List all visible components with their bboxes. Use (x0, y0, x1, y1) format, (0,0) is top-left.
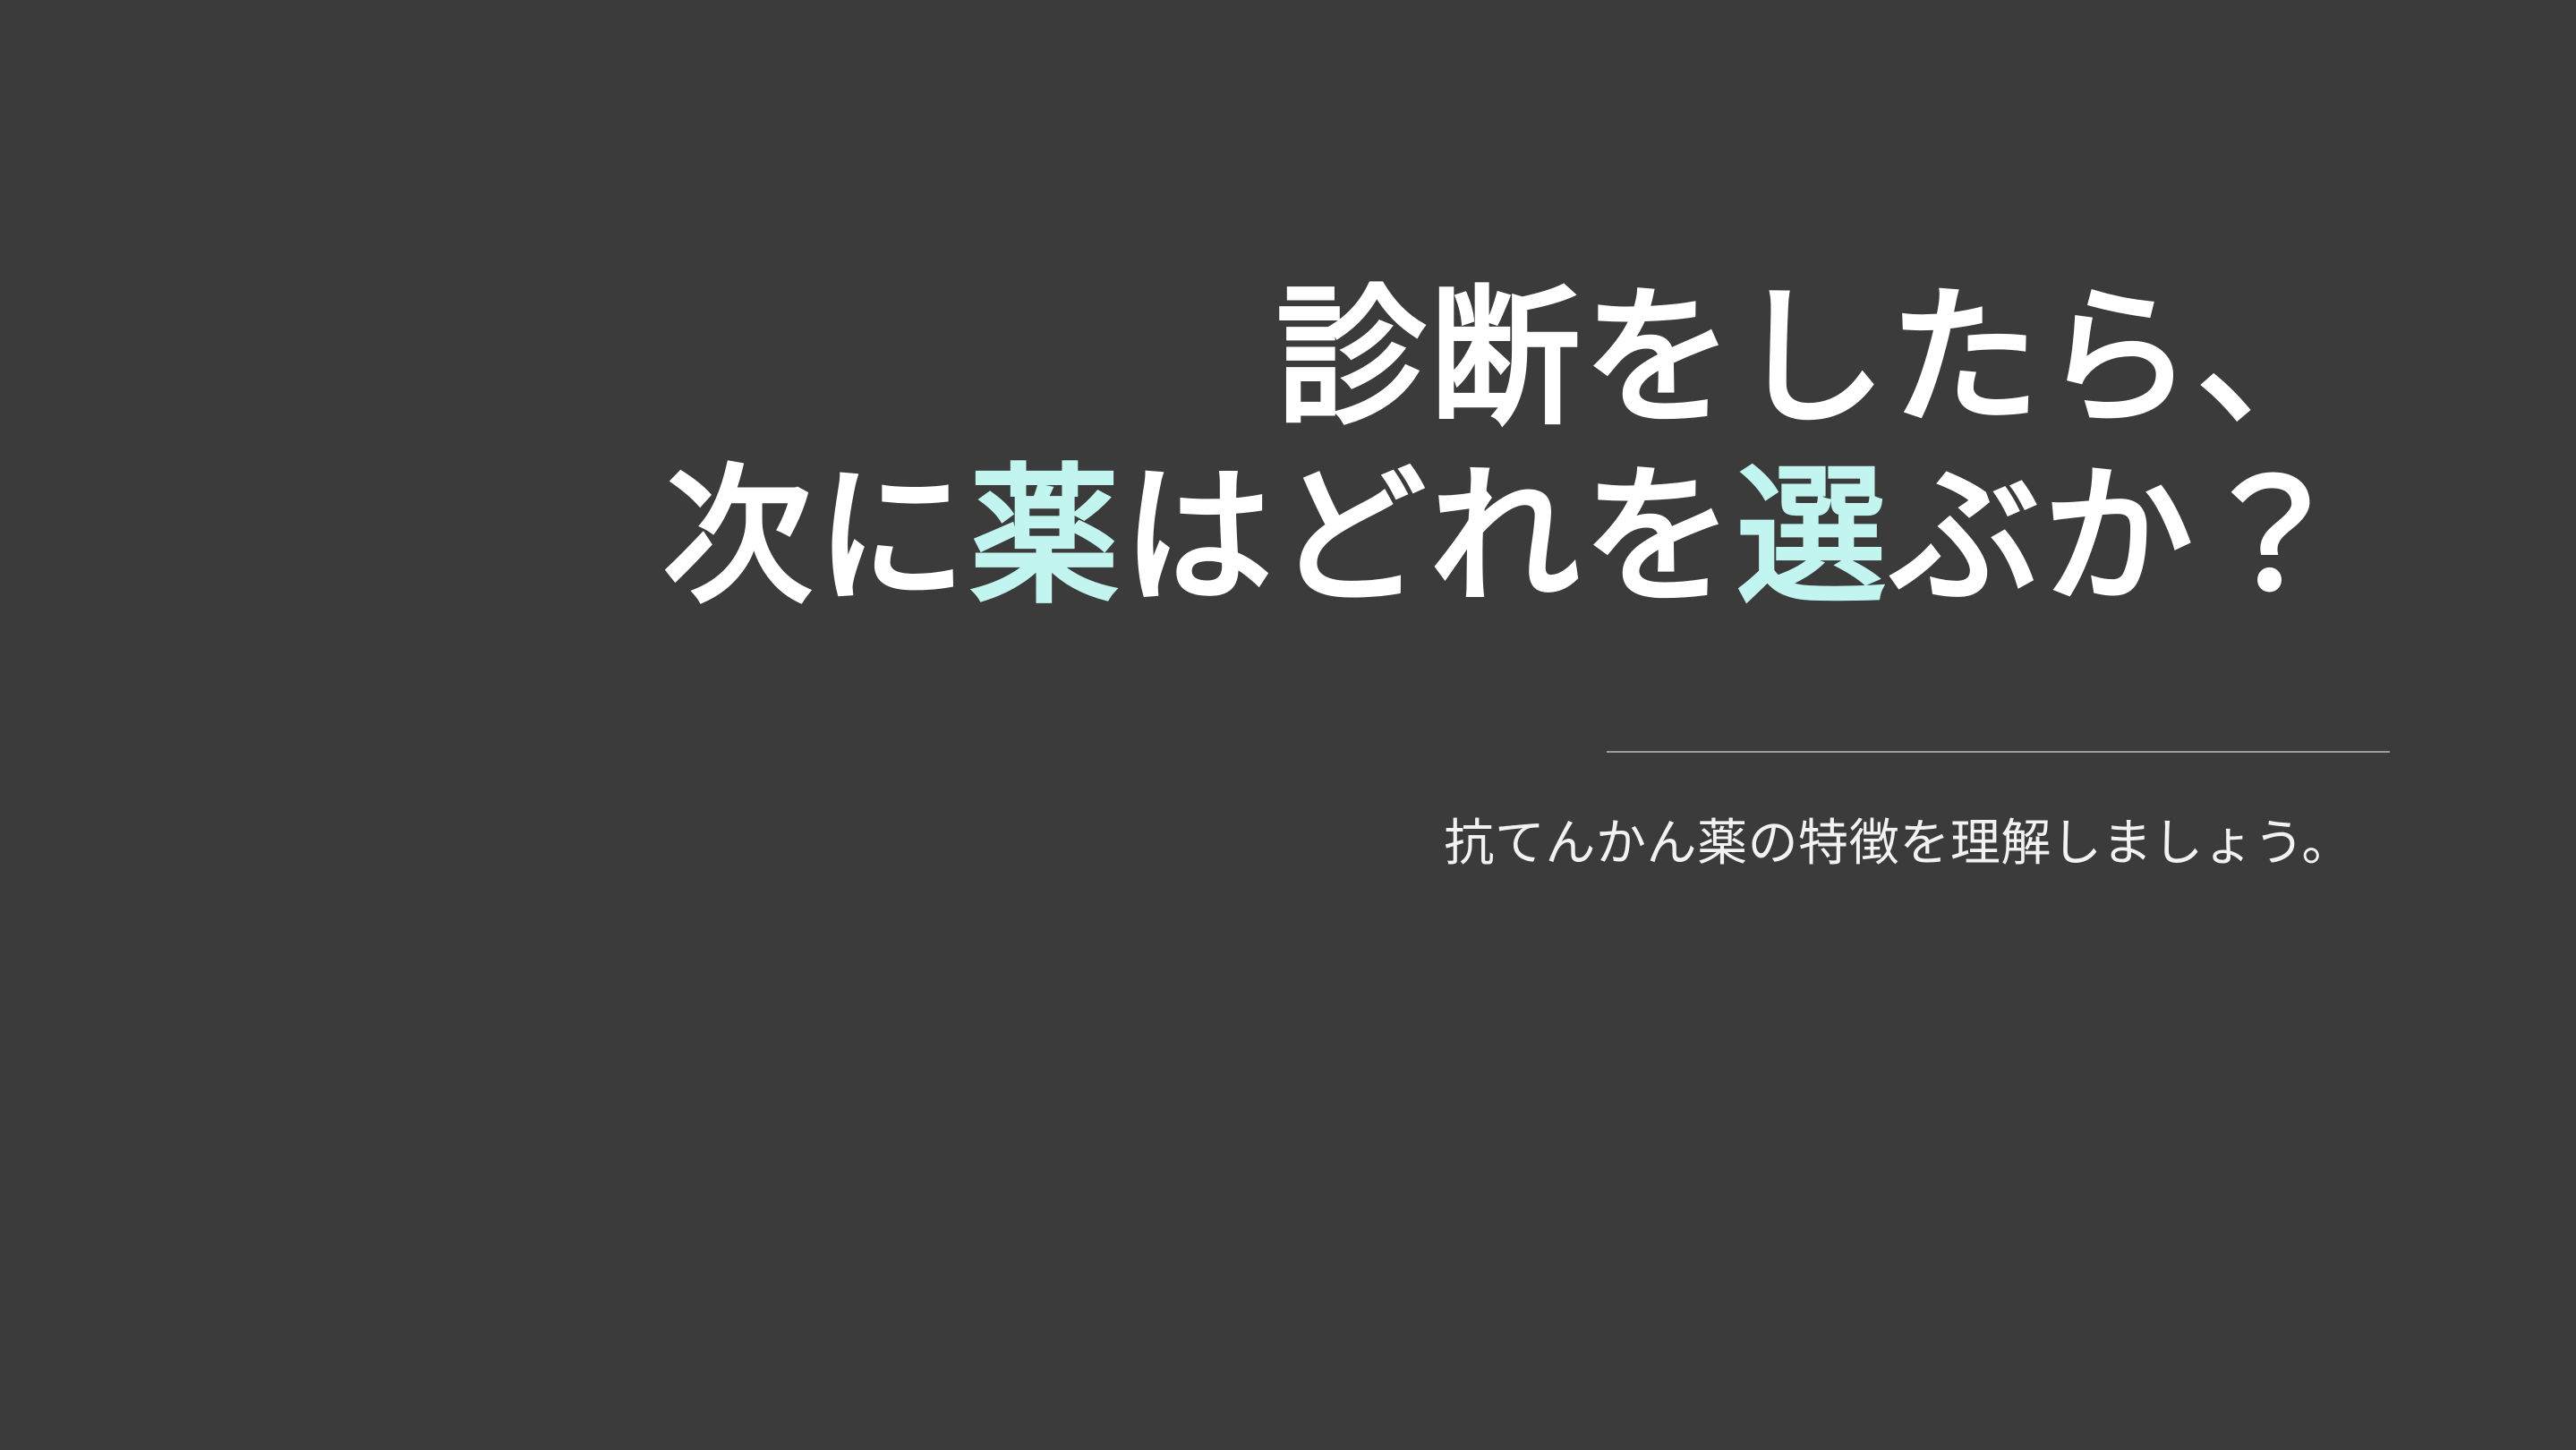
title-line-2-segment-plain-3: ぶか？ (1889, 453, 2350, 621)
title-line-2-segment-plain-2: はどれを (1122, 453, 1736, 621)
title-line-2-highlight-erabu: 選 (1736, 453, 1889, 621)
subtitle-text: 抗てんかん薬の特徴を理解しましょう。 (0, 808, 2352, 878)
title-divider (1607, 751, 2390, 753)
title-line-2-highlight-kusuri: 薬 (969, 453, 1122, 621)
slide-canvas: 診断をしたら、 次に薬はどれを選ぶか？ 抗てんかん薬の特徴を理解しましょう。 (0, 0, 2576, 1450)
title-line-1-text: 診断をしたら、 (1275, 274, 2350, 442)
slide-subtitle: 抗てんかん薬の特徴を理解しましょう。 (0, 808, 2352, 878)
divider-rule (1607, 751, 2390, 753)
title-line-2-segment-plain-1: 次に (662, 453, 969, 621)
slide-title: 診断をしたら、 次に薬はどれを選ぶか？ (0, 269, 2350, 627)
title-line-2: 次に薬はどれを選ぶか？ (0, 448, 2350, 627)
title-line-1: 診断をしたら、 (0, 269, 2350, 448)
